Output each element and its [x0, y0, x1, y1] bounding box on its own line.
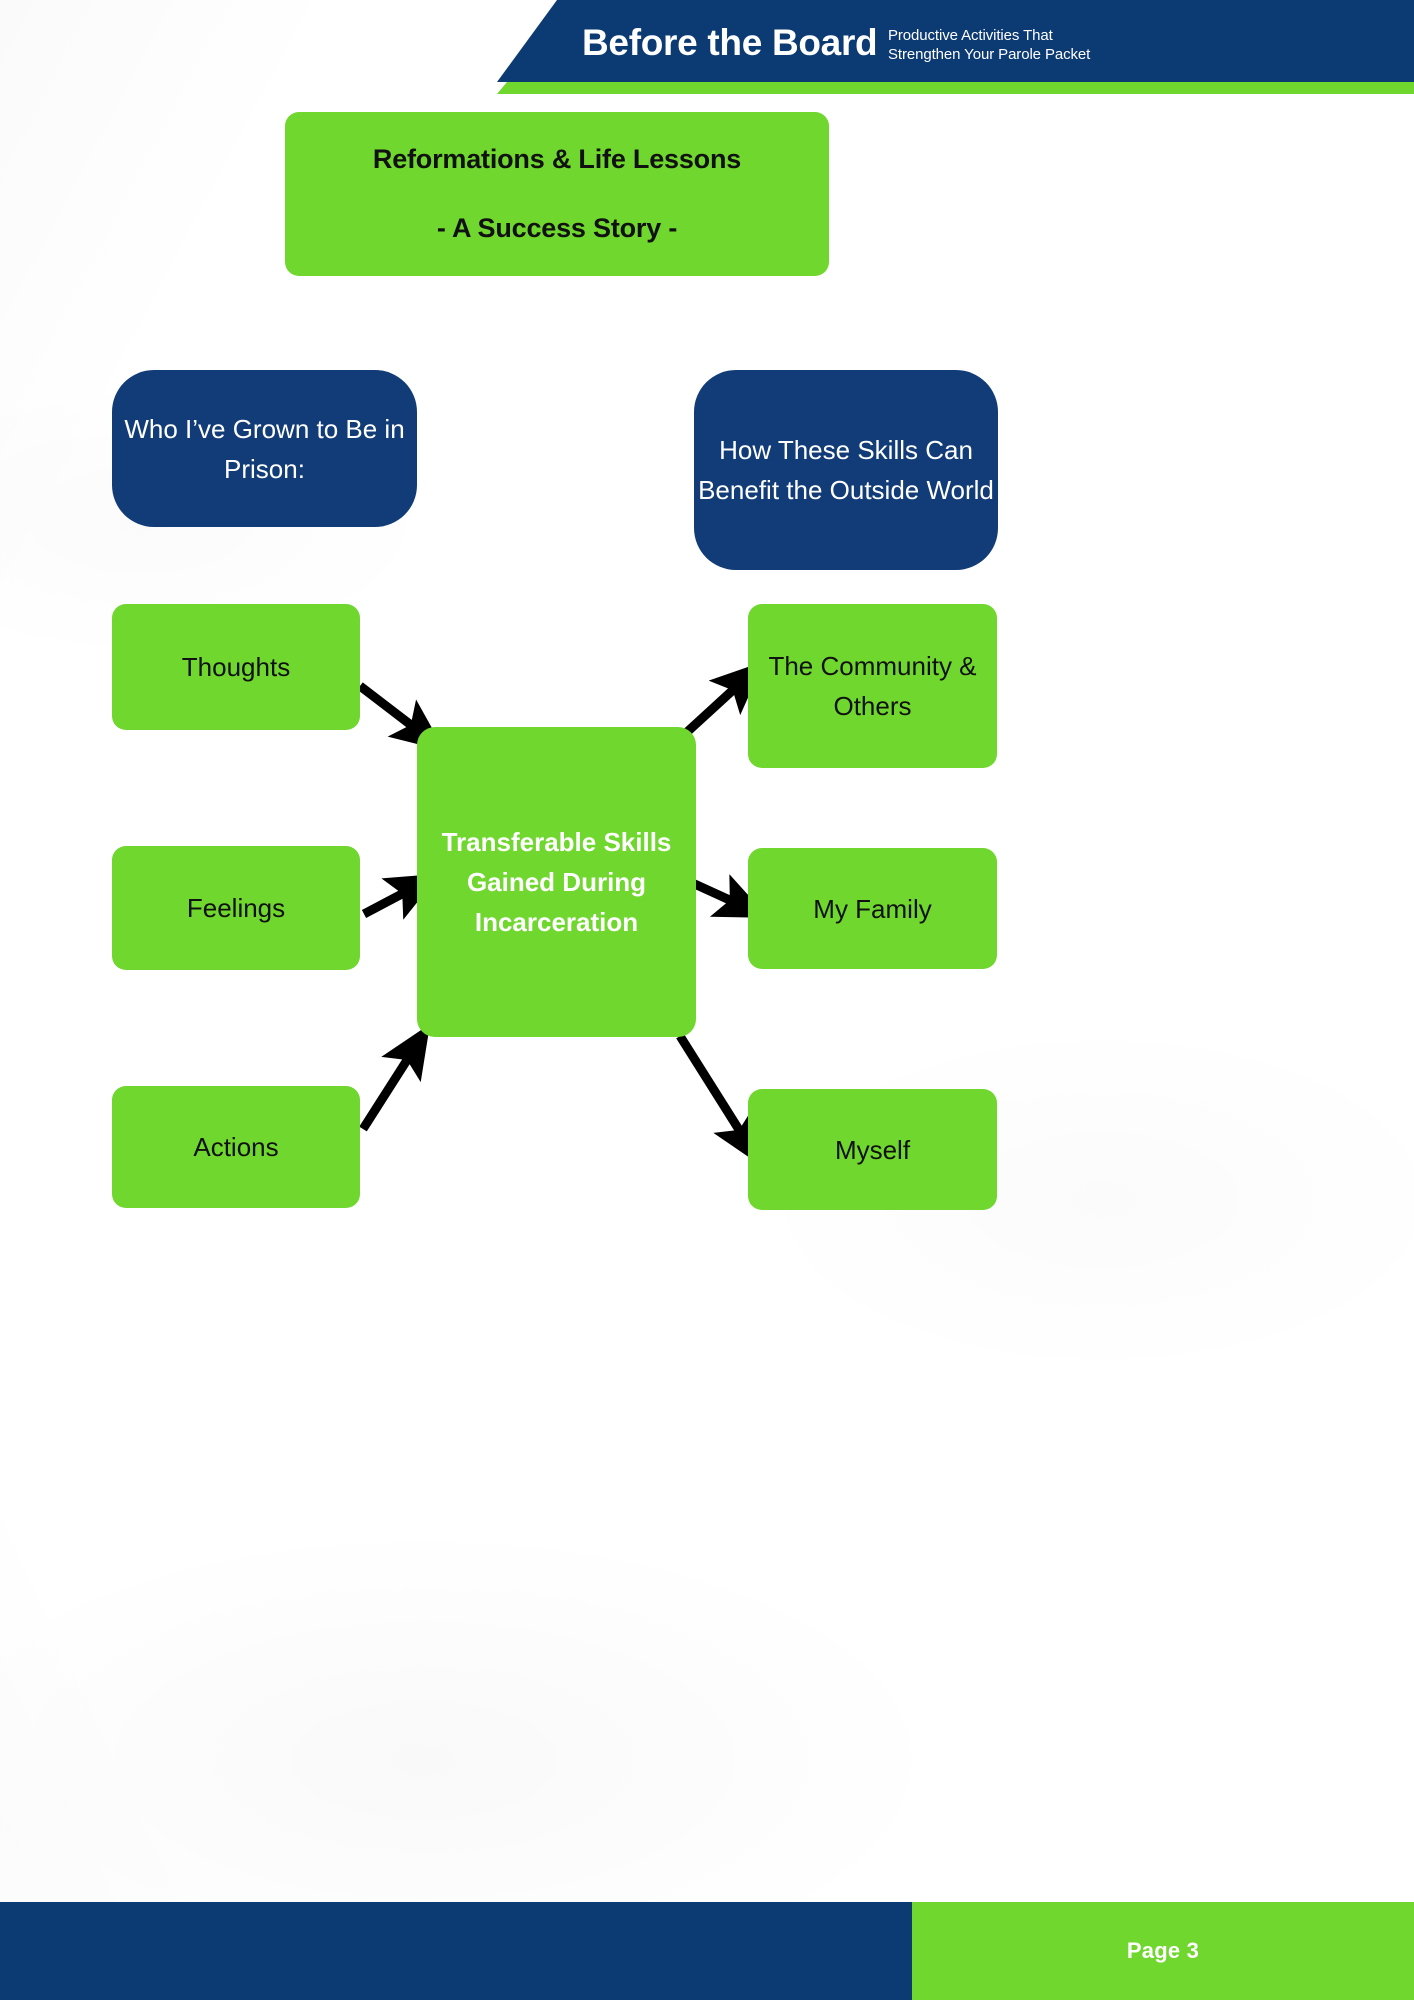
node-actions: Actions	[112, 1086, 360, 1208]
heading-how-these-skills-benefit: How These Skills Can Benefit the Outside…	[694, 370, 998, 570]
arrow-center-to-family	[688, 881, 745, 907]
header-green-accent-bar	[497, 82, 1414, 94]
footer-page-number: Page 3	[912, 1902, 1414, 2000]
page-header: Before the Board Productive Activities T…	[0, 0, 1414, 100]
node-community-and-others: The Community & Others	[748, 604, 997, 768]
header-tagline: Productive Activities That Strengthen Yo…	[888, 26, 1090, 64]
arrow-feelings-to-center	[364, 886, 417, 914]
title-card-line-2: - A Success Story -	[437, 213, 677, 244]
arrow-center-to-community	[686, 679, 745, 733]
node-my-family: My Family	[748, 848, 997, 969]
diagram-arrows	[0, 0, 1414, 2000]
node-thoughts: Thoughts	[112, 604, 360, 730]
arrow-actions-to-center	[363, 1046, 416, 1129]
header-title: Before the Board	[582, 22, 877, 64]
node-myself: Myself	[748, 1089, 997, 1210]
title-card: Reformations & Life Lessons - A Success …	[285, 112, 829, 276]
arrow-center-to-myself	[680, 1036, 748, 1144]
arrow-thoughts-to-center	[360, 686, 424, 735]
node-feelings: Feelings	[112, 846, 360, 970]
node-transferable-skills: Transferable Skills Gained During Incarc…	[417, 727, 696, 1037]
paper-texture	[0, 0, 1414, 2000]
title-card-line-1: Reformations & Life Lessons	[373, 144, 741, 175]
heading-who-ive-grown-to-be: Who I’ve Grown to Be in Prison:	[112, 370, 417, 527]
